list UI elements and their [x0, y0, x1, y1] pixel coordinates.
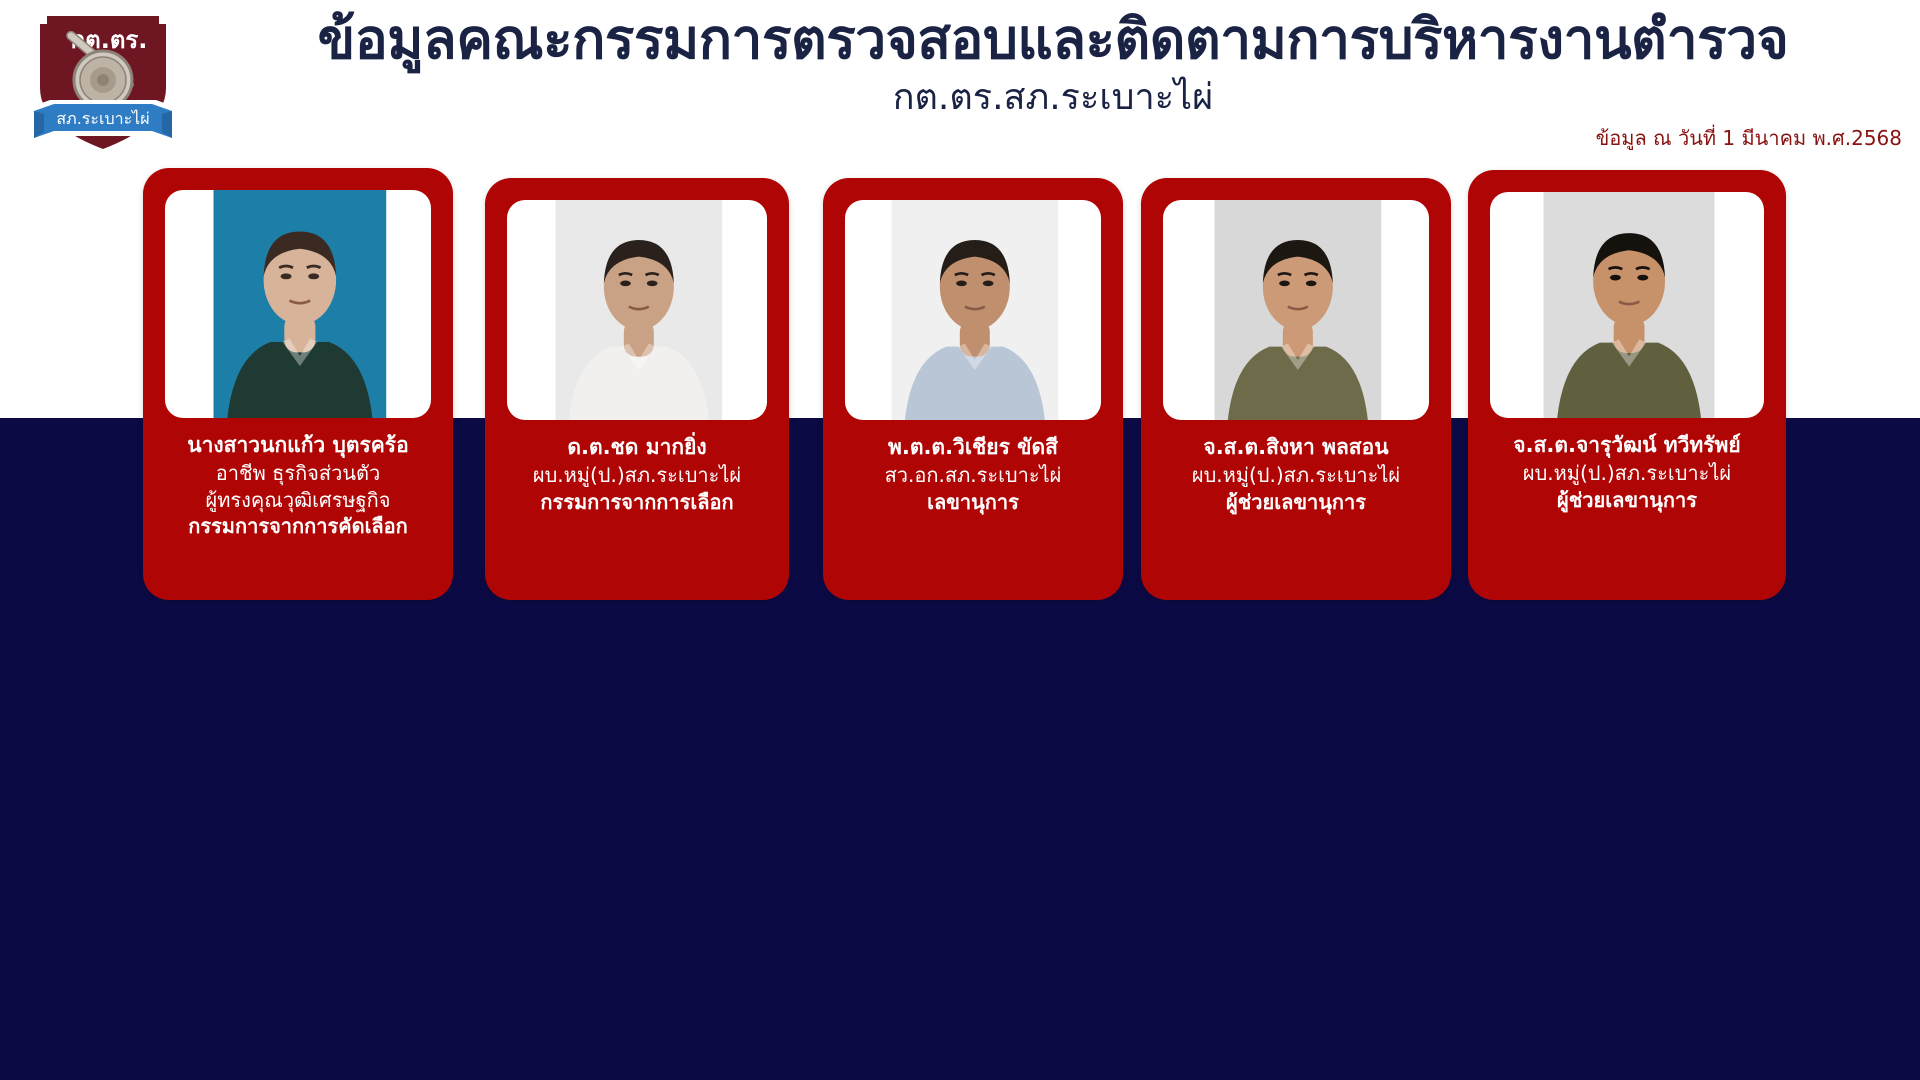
- member-detail-1: ผบ.หมู่(ป.)สภ.ระเบาะไผ่: [1147, 462, 1445, 489]
- member-role: เลขานุการ: [829, 489, 1117, 516]
- member-photo: [214, 190, 383, 418]
- member-card[interactable]: นางสาวนกแก้ว บุตรคร้ออาชีพ ธุรกิจส่วนตัว…: [143, 168, 453, 600]
- member-card[interactable]: พ.ต.ต.วิเชียร ขัดสีสว.อก.สภ.ระเบาะไผ่เลข…: [823, 178, 1123, 600]
- member-info: จ.ส.ต.สิงหา พลสอนผบ.หมู่(ป.)สภ.ระเบาะไผ่…: [1147, 434, 1445, 515]
- member-role: กรรมการจากการเลือก: [491, 489, 783, 516]
- member-photo: [892, 200, 1055, 420]
- member-name: พ.ต.ต.วิเชียร ขัดสี: [829, 434, 1117, 462]
- member-card[interactable]: ด.ต.ชด มากยิ่งผบ.หมู่(ป.)สภ.ระเบาะไผ่กรร…: [485, 178, 789, 600]
- page-subtitle: กต.ตร.สภ.ระเบาะไผ่: [186, 75, 1920, 120]
- member-photo-frame: [165, 190, 431, 418]
- member-name: จ.ส.ต.สิงหา พลสอน: [1147, 434, 1445, 462]
- member-role: ผู้ช่วยเลขานุการ: [1474, 487, 1780, 514]
- title-block: ข้อมูลคณะกรรมการตรวจสอบและติดตามการบริหา…: [186, 6, 1920, 120]
- member-photo: [556, 200, 719, 420]
- member-role: ผู้ช่วยเลขานุการ: [1147, 489, 1445, 516]
- member-photo: [1215, 200, 1378, 420]
- member-card[interactable]: จ.ส.ต.สิงหา พลสอนผบ.หมู่(ป.)สภ.ระเบาะไผ่…: [1141, 178, 1451, 600]
- member-detail-1: อาชีพ ธุรกิจส่วนตัว: [149, 460, 447, 487]
- member-detail-2: ผู้ทรงคุณวุฒิเศรษฐกิจ: [149, 487, 447, 514]
- member-photo-frame: [507, 200, 767, 420]
- member-info: นางสาวนกแก้ว บุตรคร้ออาชีพ ธุรกิจส่วนตัว…: [149, 432, 447, 540]
- member-name: ด.ต.ชด มากยิ่ง: [491, 434, 783, 462]
- member-name: นางสาวนกแก้ว บุตรคร้อ: [149, 432, 447, 460]
- member-info: ด.ต.ชด มากยิ่งผบ.หมู่(ป.)สภ.ระเบาะไผ่กรร…: [491, 434, 783, 515]
- poster-root: กต.ตร. สภ.ระเบาะไผ่ ข้อมูลคณะกรรมการตรวจ…: [0, 0, 1920, 1080]
- member-photo-frame: [845, 200, 1101, 420]
- member-photo: [1544, 192, 1711, 418]
- member-card[interactable]: จ.ส.ต.จารุวัฒน์ ทวีทรัพย์ผบ.หมู่(ป.)สภ.ร…: [1468, 170, 1786, 600]
- member-info: พ.ต.ต.วิเชียร ขัดสีสว.อก.สภ.ระเบาะไผ่เลข…: [829, 434, 1117, 515]
- svg-text:สภ.ระเบาะไผ่: สภ.ระเบาะไผ่: [56, 109, 149, 128]
- page-header: กต.ตร. สภ.ระเบาะไผ่ ข้อมูลคณะกรรมการตรวจ…: [0, 0, 1920, 170]
- member-info: จ.ส.ต.จารุวัฒน์ ทวีทรัพย์ผบ.หมู่(ป.)สภ.ร…: [1474, 432, 1780, 513]
- member-photo-frame: [1490, 192, 1764, 418]
- member-role: กรรมการจากการคัดเลือก: [149, 513, 447, 540]
- member-photo-frame: [1163, 200, 1429, 420]
- kt-tr-shield-logo-icon: กต.ตร. สภ.ระเบาะไผ่: [14, 4, 192, 164]
- member-detail-1: ผบ.หมู่(ป.)สภ.ระเบาะไผ่: [491, 462, 783, 489]
- page-title: ข้อมูลคณะกรรมการตรวจสอบและติดตามการบริหา…: [186, 6, 1920, 73]
- member-detail-1: สว.อก.สภ.ระเบาะไผ่: [829, 462, 1117, 489]
- member-name: จ.ส.ต.จารุวัฒน์ ทวีทรัพย์: [1474, 432, 1780, 460]
- member-detail-1: ผบ.หมู่(ป.)สภ.ระเบาะไผ่: [1474, 460, 1780, 487]
- data-as-of-date: ข้อมูล ณ วันที่ 1 มีนาคม พ.ศ.2568: [1596, 122, 1902, 154]
